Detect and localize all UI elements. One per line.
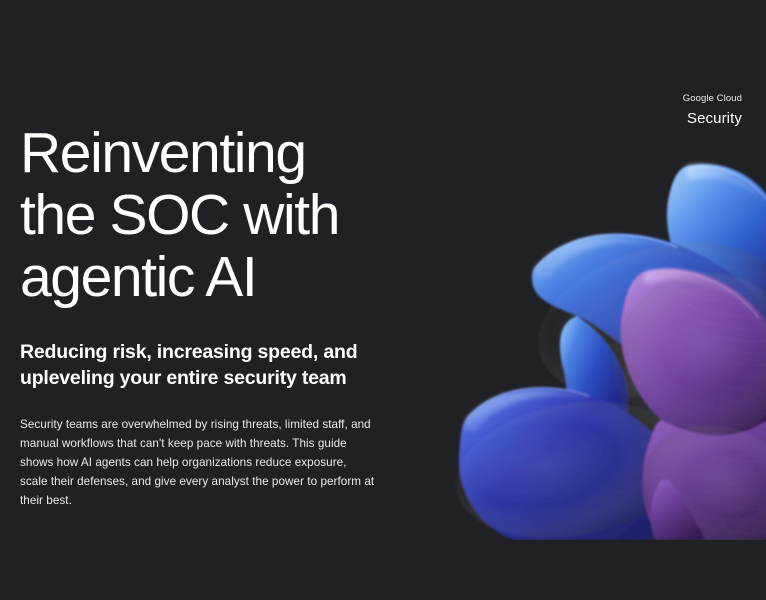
brand-security: Security [683,111,742,126]
hero-text-column: Reinventing the SOC with agentic AI Redu… [20,122,420,511]
body-paragraph: Security teams are overwhelmed by rising… [20,416,375,511]
brand-lockup: Google Cloud Security [683,94,742,126]
page-title: Reinventing the SOC with agentic AI [20,122,420,308]
hero-slide: Google Cloud Security Reinventing the SO… [0,0,766,600]
subtitle: Reducing risk, increasing speed, and upl… [20,340,420,391]
abstract-artwork [455,120,766,540]
brand-google-cloud: Google Cloud [683,94,742,104]
